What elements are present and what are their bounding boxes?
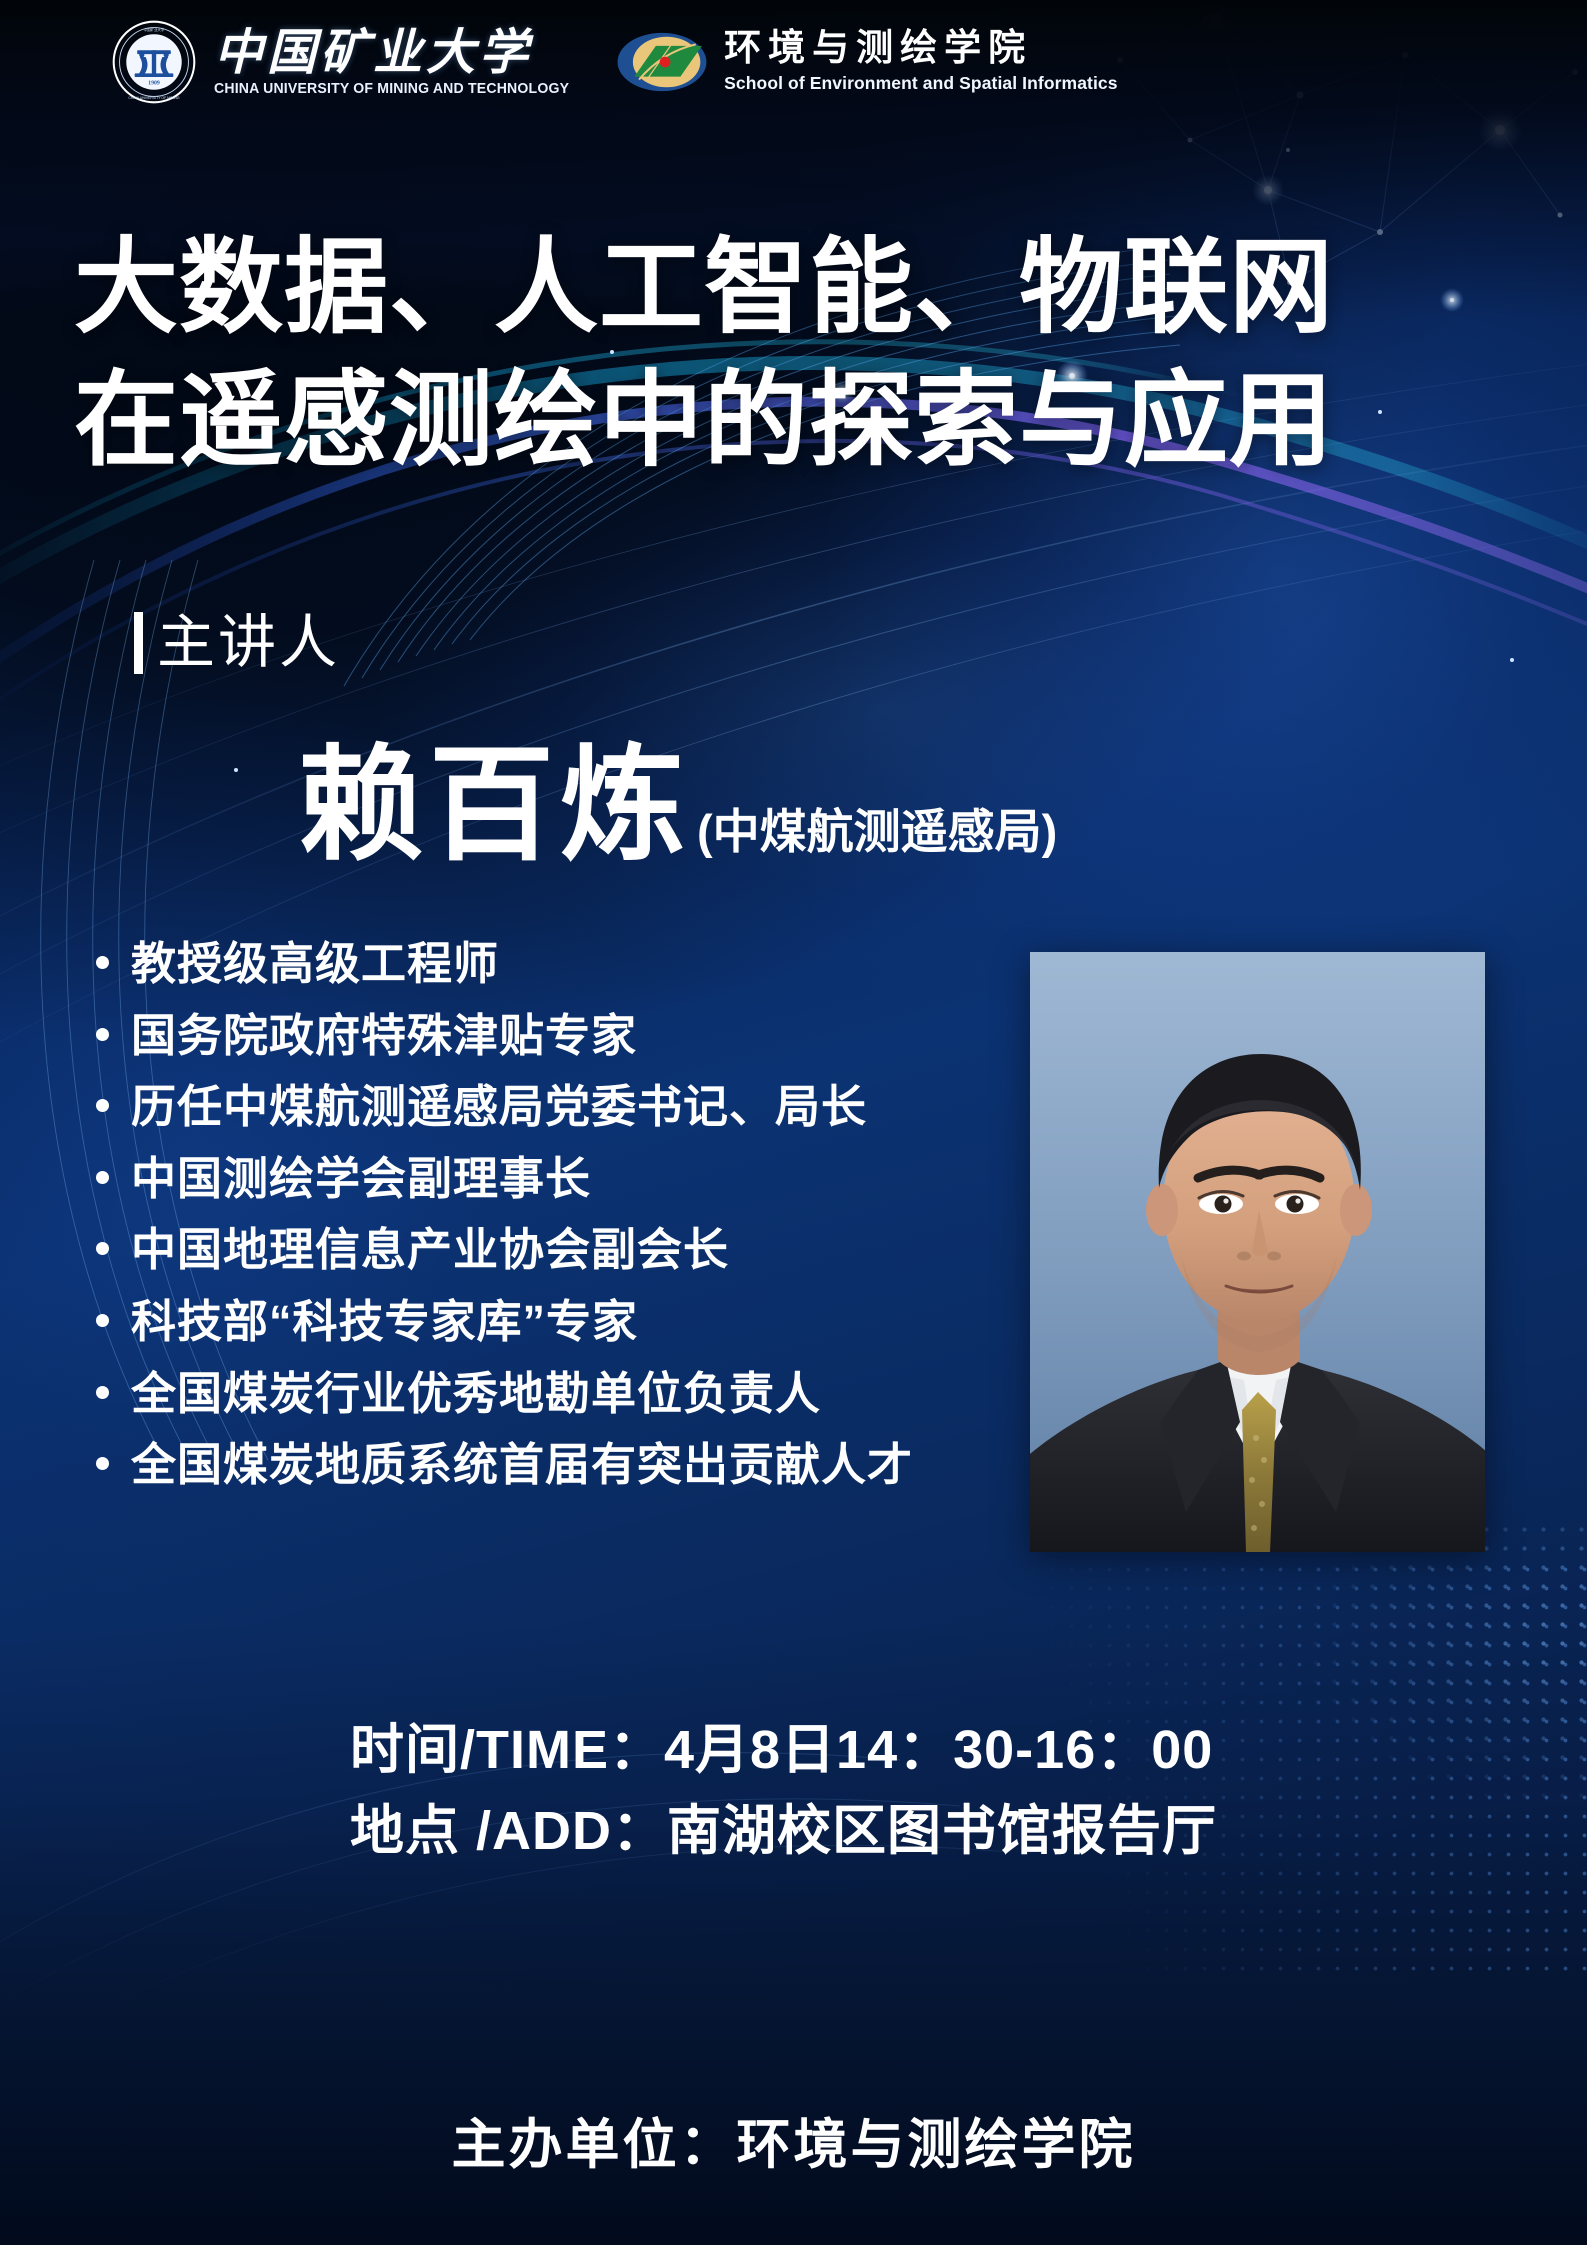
bullet-dot-icon <box>96 1457 109 1470</box>
speaker-organization: (中煤航测遥感局) <box>697 808 1057 871</box>
title-line-2: 在遥感测绘中的探索与应用 <box>74 355 1514 488</box>
list-item: 教授级高级工程师 <box>96 940 1036 989</box>
school-name-block: 环境与测绘学院 School of Environment and Spatia… <box>724 30 1117 94</box>
poster-footer: 主办单位：环境与测绘学院 <box>0 2100 1587 2179</box>
credential-text: 全国煤炭地质系统首届有突出贡献人才 <box>131 1441 913 1490</box>
bullet-dot-icon <box>96 1314 109 1327</box>
speaker-credentials-list: 教授级高级工程师 国务院政府特殊津贴专家 历任中煤航测遥感局党委书记、局长 中国… <box>96 940 1036 1513</box>
list-item: 科技部“科技专家库”专家 <box>96 1298 1036 1347</box>
school-emblem-icon <box>616 29 708 95</box>
university-name-cn: 中国矿业大学 <box>214 28 580 77</box>
speaker-label-text: 主讲人 <box>157 614 340 672</box>
halftone-dot-pattern-accent <box>1287 1520 1587 1820</box>
credential-text: 全国煤炭行业优秀地勘单位负责人 <box>131 1370 821 1419</box>
credential-text: 中国测绘学会副理事长 <box>131 1155 591 1204</box>
bullet-dot-icon <box>96 1099 109 1112</box>
credential-text: 历任中煤航测遥感局党委书记、局长 <box>131 1083 867 1132</box>
cumt-seal-icon: 1909 中国矿业大学 CHINA UNIVERSITY OF MINING <box>112 20 196 104</box>
school-name-cn: 环境与测绘学院 <box>724 30 1117 67</box>
list-item: 国务院政府特殊津贴专家 <box>96 1012 1036 1061</box>
university-name-en: CHINA UNIVERSITY OF MINING AND TECHNOLOG… <box>214 81 569 97</box>
organizer-text: 主办单位：环境与测绘学院 <box>452 2115 1136 2175</box>
school-logo-block: 环境与测绘学院 School of Environment and Spatia… <box>616 29 1117 95</box>
event-info: 时间/TIME：4月8日14：30-16：00 地点 /ADD：南湖校区图书馆报… <box>350 1710 1217 1872</box>
speaker-label-group: 主讲人 <box>134 612 340 674</box>
svg-text:CHINA UNIVERSITY OF MINING: CHINA UNIVERSITY OF MINING <box>128 96 179 100</box>
bullet-dot-icon <box>96 1242 109 1255</box>
bullet-dot-icon <box>96 1028 109 1041</box>
event-place: 地点 /ADD：南湖校区图书馆报告厅 <box>350 1791 1217 1872</box>
credential-text: 中国地理信息产业协会副会长 <box>131 1226 729 1275</box>
poster-title: 大数据、人工智能、物联网 在遥感测绘中的探索与应用 <box>74 222 1514 488</box>
list-item: 中国测绘学会副理事长 <box>96 1155 1036 1204</box>
bullet-dot-icon <box>96 1171 109 1184</box>
svg-text:中国矿业大学: 中国矿业大学 <box>144 27 165 32</box>
speaker-portrait <box>1030 952 1485 1552</box>
speaker-name: 赖百炼 <box>298 740 691 871</box>
university-name-block: 中国矿业大学 CHINA UNIVERSITY OF MINING AND TE… <box>214 28 580 97</box>
bullet-dot-icon <box>96 956 109 969</box>
poster-header: 1909 中国矿业大学 CHINA UNIVERSITY OF MINING 中… <box>112 20 1118 104</box>
list-item: 全国煤炭地质系统首届有突出贡献人才 <box>96 1441 1036 1490</box>
credential-text: 教授级高级工程师 <box>131 940 499 989</box>
credential-text: 国务院政府特殊津贴专家 <box>131 1012 637 1061</box>
speaker-label-accent-bar <box>134 612 143 674</box>
poster-root: 1909 中国矿业大学 CHINA UNIVERSITY OF MINING 中… <box>0 0 1587 2245</box>
event-time: 时间/TIME：4月8日14：30-16：00 <box>350 1710 1217 1791</box>
speaker-name-group: 赖百炼 (中煤航测遥感局) <box>298 740 1057 871</box>
credential-text: 科技部“科技专家库”专家 <box>131 1298 638 1347</box>
title-line-1: 大数据、人工智能、物联网 <box>74 222 1514 355</box>
list-item: 全国煤炭行业优秀地勘单位负责人 <box>96 1370 1036 1419</box>
school-name-en: School of Environment and Spatial Inform… <box>724 73 1117 94</box>
svg-text:1909: 1909 <box>148 81 160 87</box>
list-item: 中国地理信息产业协会副会长 <box>96 1226 1036 1275</box>
bullet-dot-icon <box>96 1386 109 1399</box>
university-logo-block: 1909 中国矿业大学 CHINA UNIVERSITY OF MINING 中… <box>112 20 580 104</box>
list-item: 历任中煤航测遥感局党委书记、局长 <box>96 1083 1036 1132</box>
